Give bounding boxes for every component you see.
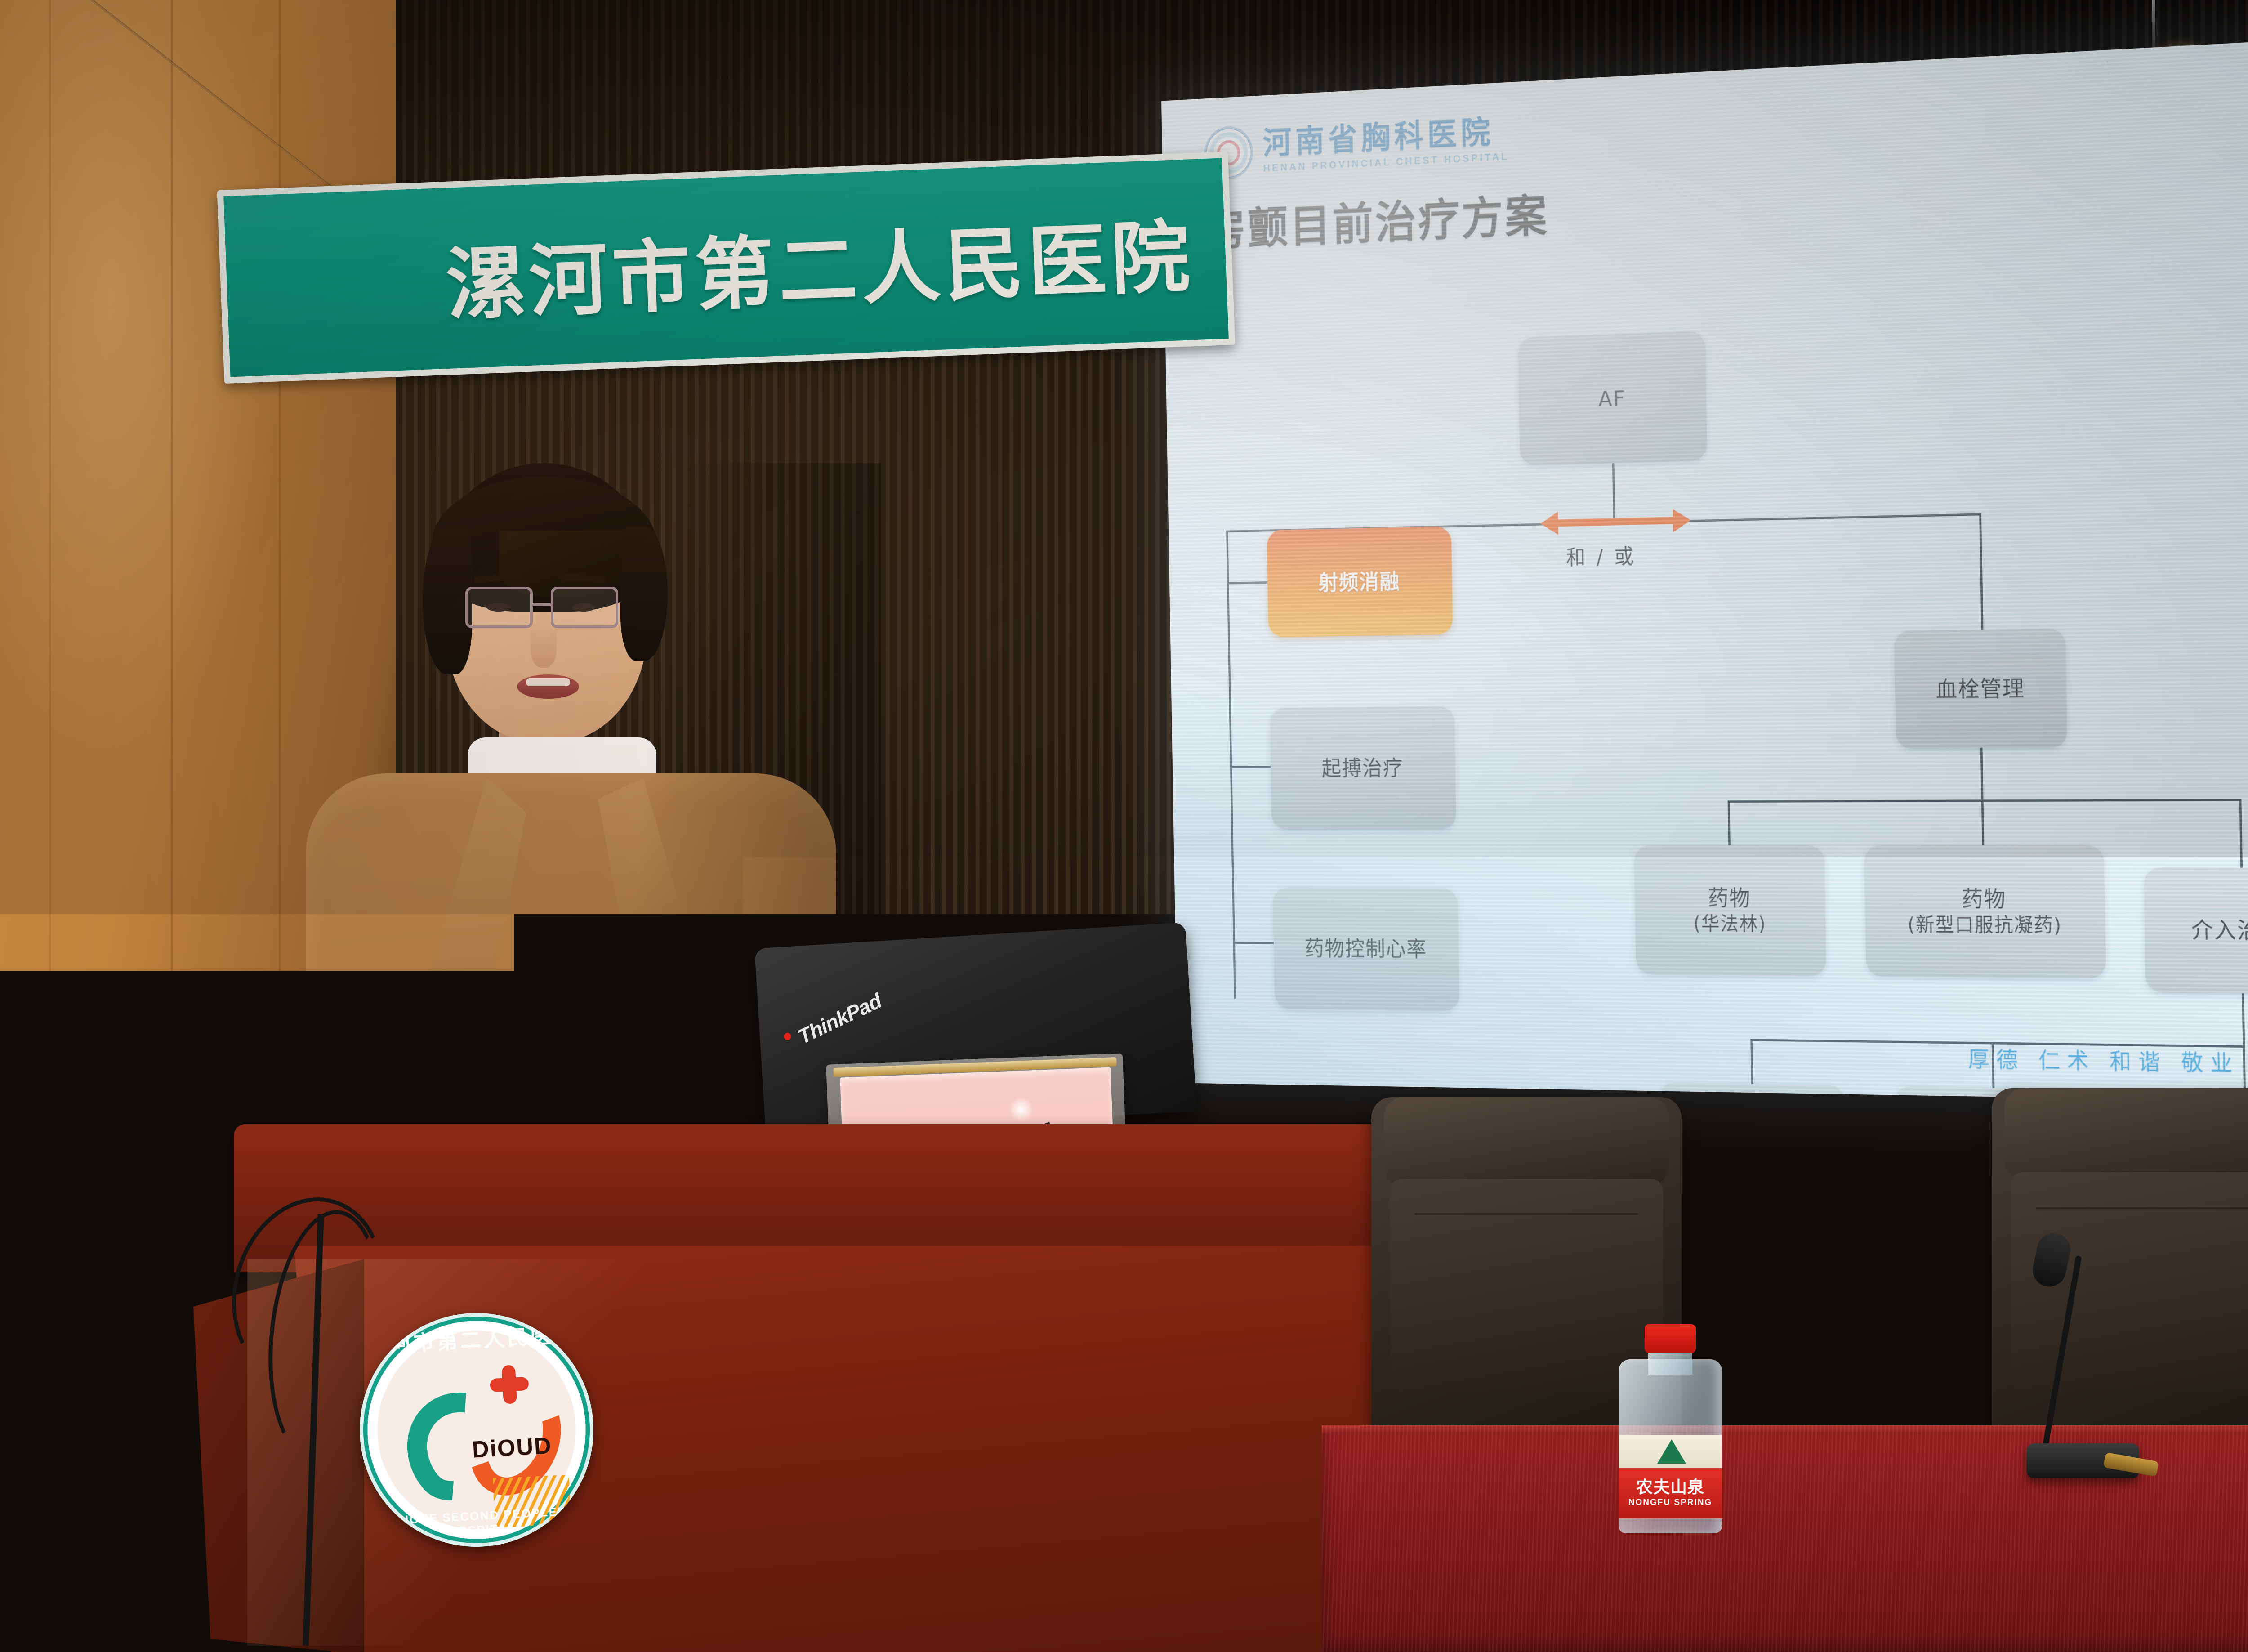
hair-side-right	[620, 526, 668, 661]
node-af: AF	[1518, 331, 1707, 465]
arrow-tip-right	[1673, 509, 1691, 532]
logo-medical-cross-icon	[489, 1364, 530, 1405]
connector-to-noac	[1981, 799, 1985, 848]
hospital-logo-emblem: 漯河市第二人民医院 LUOHE SECOND PEOPLE'S HOSPITAL	[354, 1307, 600, 1553]
podium-banner: 漯河市第二人民医院	[217, 152, 1236, 384]
node-drug-warfarin-line2: (华法林)	[1693, 912, 1766, 937]
organization-names: 河南省胸科医院 HENAN PROVINCIAL CHEST HOSPITAL	[1262, 115, 1509, 174]
bottle-brand-cn: 农夫山泉	[1636, 1479, 1704, 1496]
and-or-label: 和 / 或	[1566, 539, 1636, 571]
bottle-brand-en: NONGFU SPRING	[1628, 1498, 1712, 1508]
connector-thrombus-bus	[1728, 799, 2242, 803]
chair-crease	[2036, 1207, 2248, 1209]
connector-to-occlusion	[2243, 1045, 2246, 1095]
arrow-bar	[1556, 517, 1675, 527]
bottle-cap	[1645, 1324, 1696, 1353]
slide-header: 河南省胸科医院 HENAN PROVINCIAL CHEST HOSPITAL …	[1204, 74, 2248, 259]
connector-right-rail	[1979, 513, 1984, 641]
projection-screen: 河南省胸科医院 HENAN PROVINCIAL CHEST HOSPITAL …	[1161, 41, 2248, 1102]
connector-left-rail	[1226, 531, 1236, 999]
node-pacing: 起搏治疗	[1270, 706, 1456, 829]
node-thrombus-management: 血栓管理	[1894, 628, 2068, 749]
gooseneck-microphone[interactable]	[1992, 1255, 2145, 1493]
node-drug-noac: 药物 (新型口服抗凝药)	[1864, 845, 2106, 978]
bottle-label-lower: 农夫山泉 NONGFU SPRING	[1619, 1468, 1722, 1518]
eyeglasses-bridge	[533, 603, 552, 606]
connector-to-ligation	[1750, 1039, 1753, 1086]
connector-thrombus-down	[1980, 748, 1984, 801]
treatment-flow-diagram: AF 和 / 或 射频消融 起搏治疗	[1165, 310, 2248, 1039]
chair-headrest	[1384, 1097, 1669, 1186]
node-drug-warfarin-text: 药物 (华法林)	[1693, 884, 1766, 937]
chair-headrest	[2004, 1088, 2248, 1179]
node-drug-noac-line2: (新型口服抗凝药)	[1907, 913, 2062, 938]
node-drug-warfarin-line1: 药物	[1708, 886, 1751, 911]
node-intervention: 介入治疗	[2144, 868, 2248, 995]
water-bottle[interactable]: 农夫山泉 NONGFU SPRING	[1619, 1324, 1722, 1533]
slide-footer-motto: 厚德 仁术 和谐 敬业	[1968, 1042, 2240, 1078]
connector-intervention-down	[2242, 993, 2245, 1047]
eyeglasses-lens-right	[551, 587, 618, 628]
node-ablation: 射频消融	[1267, 526, 1453, 637]
podium-banner-text: 漯河市第二人民医院	[444, 193, 1196, 335]
connector-to-ablation	[1227, 581, 1270, 584]
node-drug-noac-line1: 药物	[1962, 886, 2007, 912]
node-drug-warfarin: 药物 (华法林)	[1634, 845, 1826, 976]
podium-brand-plate: DiOUD	[472, 1432, 553, 1463]
light-rod	[2152, 0, 2155, 49]
auditorium-scene: 河南省胸科医院 HENAN PROVINCIAL CHEST HOSPITAL …	[0, 0, 2248, 1652]
connector-af-down	[1612, 463, 1615, 523]
slide-surface: 河南省胸科医院 HENAN PROVINCIAL CHEST HOSPITAL …	[1161, 41, 2248, 1102]
chair-crease	[1415, 1213, 1638, 1215]
node-rate-control: 药物控制心率	[1273, 888, 1459, 1011]
connector-to-intervention	[2239, 799, 2243, 871]
eyeglasses-lens-left	[465, 587, 533, 628]
connector-to-rate-control	[1233, 942, 1276, 944]
and-or-arrow-icon	[1540, 515, 1691, 529]
bottle-mountain-icon	[1657, 1439, 1686, 1464]
connector-to-pacing	[1230, 766, 1273, 768]
connector-to-warfarin	[1728, 800, 1731, 848]
nose	[531, 618, 557, 668]
node-drug-noac-text: 药物 (新型口服抗凝药)	[1907, 885, 2062, 938]
mouth	[517, 674, 579, 699]
hair-side-left	[423, 526, 472, 674]
